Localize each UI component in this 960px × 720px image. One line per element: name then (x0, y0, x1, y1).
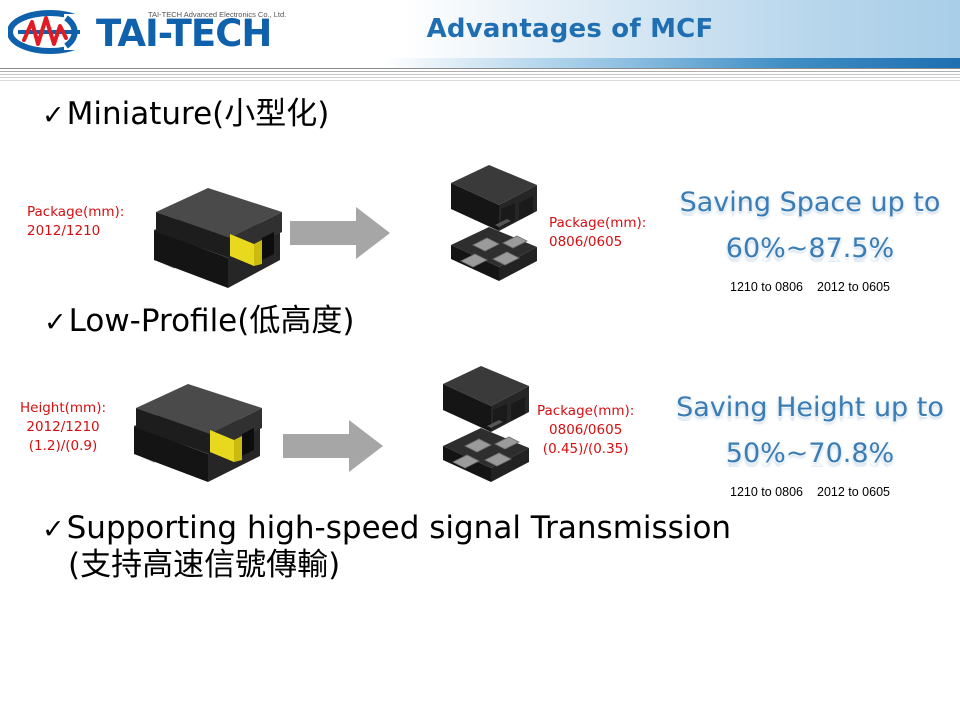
row2-left-height-line3: (1.2)/(0.9) (20, 437, 106, 456)
saving-space-line1-reflection: Saving Space up to (660, 210, 960, 219)
saving-space-sublabels: 1210 to 08062012 to 0605 (660, 280, 960, 294)
row2-right-package-line1: Package(mm): (537, 402, 634, 421)
page-title: Advantages of MCF (0, 14, 960, 44)
check-icon: ✓ (44, 307, 67, 338)
row2-left-height-line1: Height(mm): (20, 399, 106, 418)
row2-left-height-label: Height(mm): 2012/1210 (1.2)/(0.9) (20, 399, 106, 456)
row1-right-package-label: Package(mm): 0806/0605 (549, 214, 646, 252)
saving-space-sub1: 1210 to 0806 (730, 280, 803, 294)
saving-height-line1-reflection: Saving Height up to (660, 415, 960, 424)
bullet-high-speed-line2: (支持高速信號傳輸) (42, 547, 882, 584)
saving-space-line2-reflection: 60%~87.5% (660, 256, 960, 265)
saving-height-sub1: 1210 to 0806 (730, 485, 803, 499)
bullet-miniature: ✓Miniature(小型化) (42, 96, 329, 133)
check-icon: ✓ (42, 514, 65, 545)
component-2012-1210-lowprofile-3d-image (132, 372, 282, 487)
bullet-miniature-label: Miniature(小型化) (67, 96, 330, 132)
bullet-high-speed-line1: Supporting high-speed signal Transmissio… (67, 510, 731, 546)
saving-height-sublabels: 1210 to 08062012 to 0605 (660, 485, 960, 499)
saving-height-wordart: Saving Height up to Saving Height up to … (660, 391, 960, 499)
row2-right-package-line3: (0.45)/(0.35) (537, 440, 634, 459)
saving-space-wordart: Saving Space up to Saving Space up to 60… (660, 186, 960, 294)
check-icon: ✓ (42, 100, 65, 131)
slide: TAI-TECH Advanced Electronics Co., Ltd. … (0, 0, 960, 720)
transition-arrow-row2-icon (283, 420, 383, 477)
bullet-low-profile: ✓Low-Profile(低高度) (44, 303, 354, 340)
header-gradient-band (0, 58, 960, 68)
row2-right-package-line2: 0806/0605 (537, 421, 634, 440)
component-2012-1210-3d-image (150, 168, 310, 293)
row1-right-package-line1: Package(mm): (549, 214, 646, 233)
transition-arrow-row1-icon (290, 207, 390, 264)
row1-right-package-line2: 0806/0605 (549, 233, 646, 252)
saving-height-line2-reflection: 50%~70.8% (660, 461, 960, 470)
slide-header: TAI-TECH Advanced Electronics Co., Ltd. … (0, 0, 960, 62)
row2-left-height-line2: 2012/1210 (20, 418, 106, 437)
row2-right-package-label: Package(mm): 0806/0605 (0.45)/(0.35) (537, 402, 634, 459)
component-0806-0605-lowprofile-3d-image (437, 364, 547, 494)
bullet-low-profile-label: Low-Profile(低高度) (69, 303, 355, 339)
saving-height-sub2: 2012 to 0605 (817, 485, 890, 499)
row1-left-package-line1: Package(mm): (27, 203, 124, 222)
row1-left-package-line2: 2012/1210 (27, 222, 124, 241)
bullet-high-speed: ✓Supporting high-speed signal Transmissi… (42, 510, 882, 583)
component-0806-0605-3d-image (445, 163, 555, 293)
saving-space-sub2: 2012 to 0605 (817, 280, 890, 294)
header-rule-lines (0, 68, 960, 82)
row1-left-package-label: Package(mm): 2012/1210 (27, 203, 124, 241)
